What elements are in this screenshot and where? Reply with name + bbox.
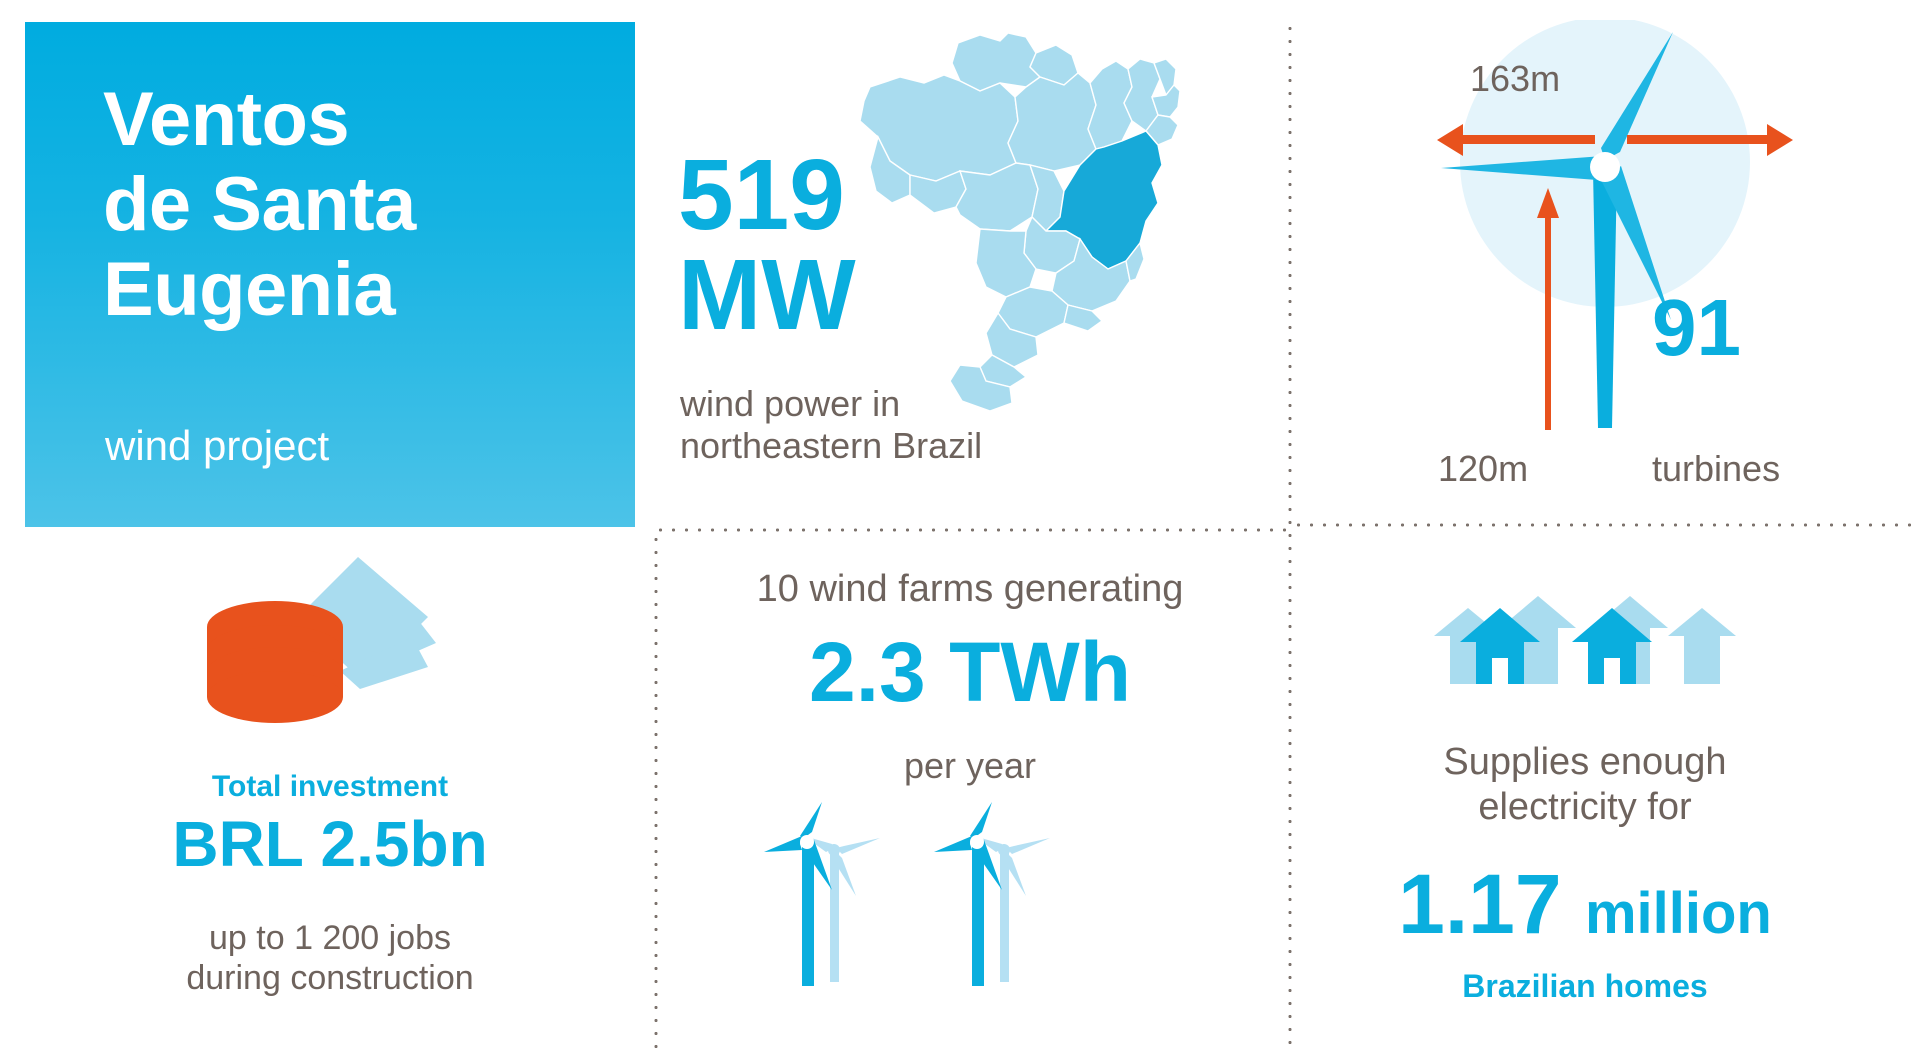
- project-subtitle: wind project: [105, 422, 329, 470]
- project-title-line-2: de Santa: [103, 162, 416, 247]
- project-title-line-3: Eugenia: [103, 247, 416, 332]
- homes-heading-line-2: electricity for: [1300, 785, 1870, 830]
- divider-horizontal-right: [1292, 523, 1920, 527]
- investment-jobs-line-1: up to 1 200 jobs: [25, 918, 635, 958]
- investment-label: Total investment: [25, 770, 635, 804]
- capacity-value: 519 MW: [678, 145, 856, 345]
- homes-value-unit: million: [1585, 881, 1772, 946]
- homes-heading-line-1: Supplies enough: [1300, 740, 1870, 785]
- rotor-diameter-label: 163m: [1470, 58, 1560, 100]
- turbine-count-label: turbines: [1652, 448, 1780, 490]
- project-title-line-1: Ventos: [103, 77, 416, 162]
- infographic-canvas: Ventos de Santa Eugenia wind project 519…: [0, 0, 1920, 1049]
- generation-heading: 10 wind farms generating: [660, 567, 1280, 612]
- divider-horizontal-middle: [654, 528, 1290, 532]
- homes-heading: Supplies enough electricity for: [1300, 740, 1870, 830]
- coins-and-banknotes-icon: [190, 555, 450, 725]
- investment-amount: BRL 2.5bn: [25, 812, 635, 876]
- brazil-map-icon: [840, 25, 1180, 415]
- capacity-caption-line-2: northeastern Brazil: [680, 425, 982, 467]
- generation-period: per year: [660, 745, 1280, 787]
- divider-vertical-center: [1288, 22, 1292, 1049]
- investment-jobs-line-2: during construction: [25, 958, 635, 998]
- homes-value-number: 1.17: [1398, 857, 1562, 951]
- project-title-card: Ventos de Santa Eugenia wind project: [25, 22, 635, 527]
- generation-value: 2.3 TWh: [660, 630, 1280, 714]
- wind-farm-turbines-icon: [760, 800, 1100, 990]
- turbine-count: 91: [1652, 288, 1741, 368]
- investment-jobs: up to 1 200 jobs during construction: [25, 918, 635, 998]
- hub-height-label: 120m: [1438, 448, 1528, 490]
- homes-sublabel: Brazilian homes: [1300, 968, 1870, 1005]
- divider-vertical-left: [654, 533, 658, 1049]
- capacity-unit: MW: [678, 245, 856, 345]
- houses-icon: [1430, 578, 1740, 688]
- project-title: Ventos de Santa Eugenia: [103, 77, 416, 332]
- homes-value: 1.17 million: [1300, 862, 1870, 946]
- capacity-number: 519: [678, 145, 856, 245]
